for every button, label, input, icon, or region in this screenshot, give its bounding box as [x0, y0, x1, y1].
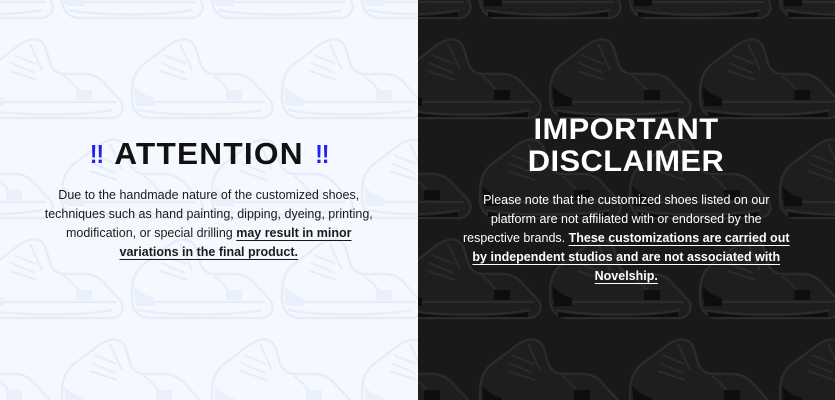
attention-heading: !!ATTENTION!!: [40, 138, 377, 171]
attention-heading-label: ATTENTION: [114, 136, 304, 171]
attention-body: Due to the handmade nature of the custom…: [44, 186, 374, 262]
disclaimer-panel: IMPORTANT DISCLAIMER Please note that th…: [418, 0, 835, 400]
customization-notice-banner: !!ATTENTION!! Due to the handmade nature…: [0, 0, 835, 400]
exclamation-left-icon: !!: [89, 141, 102, 168]
attention-content: !!ATTENTION!! Due to the handmade nature…: [44, 138, 374, 263]
disclaimer-heading-line-2: DISCLAIMER: [456, 146, 796, 178]
disclaimer-heading-line-1: IMPORTANT: [456, 114, 796, 146]
exclamation-right-icon: !!: [315, 141, 328, 168]
disclaimer-heading: IMPORTANT DISCLAIMER: [456, 114, 796, 178]
disclaimer-content: IMPORTANT DISCLAIMER Please note that th…: [461, 114, 791, 287]
disclaimer-body: Please note that the customized shoes li…: [461, 191, 791, 286]
attention-panel: !!ATTENTION!! Due to the handmade nature…: [0, 0, 418, 400]
